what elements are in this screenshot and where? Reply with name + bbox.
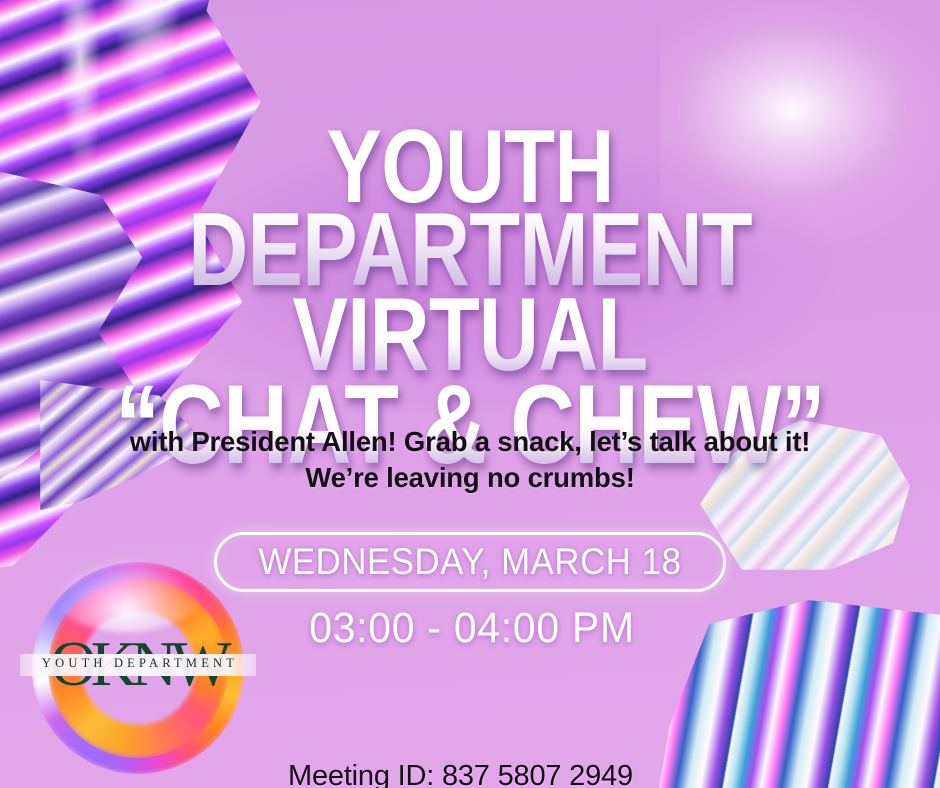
date-pill: WEDNESDAY, MARCH 18 xyxy=(214,532,726,592)
meeting-id: Meeting ID: 837 5807 2949 xyxy=(288,756,633,788)
subtitle-line-1: with President Allen! Grab a snack, let’… xyxy=(0,424,940,460)
date-text: WEDNESDAY, MARCH 18 xyxy=(258,541,681,583)
top-right-glow xyxy=(660,0,940,260)
meeting-details: Meeting ID: 837 5807 2949 Password: 9143… xyxy=(288,674,633,788)
event-flyer: Youth Department Virtual “Chat & Chew” w… xyxy=(0,0,940,788)
oknw-youth-department-logo: OKNW YOUTH DEPARTMENT xyxy=(18,548,258,788)
center-glow xyxy=(140,120,840,420)
subtitle-block: with President Allen! Grab a snack, let’… xyxy=(0,424,940,496)
subtitle-line-2: We’re leaving no crumbs! xyxy=(0,460,940,496)
logo-ring-gloss xyxy=(52,556,202,632)
logo-band-text: YOUTH DEPARTMENT xyxy=(18,656,258,671)
time-text: 03:00 - 04:00 PM xyxy=(190,604,754,653)
